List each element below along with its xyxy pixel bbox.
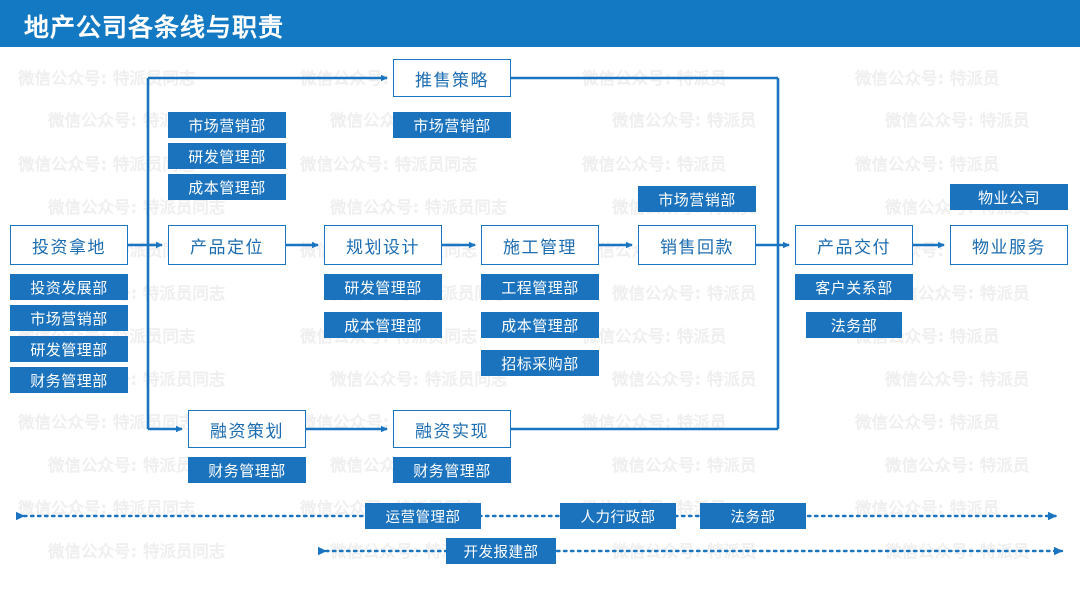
department-tag: 成本管理部 [481,312,599,338]
stage-box-invest[interactable]: 投资拿地 [10,225,128,265]
stage-box-build[interactable]: 施工管理 [481,225,599,265]
department-tag: 物业公司 [950,184,1068,210]
page-title: 地产公司各条线与职责 [24,8,284,44]
department-tag: 市场营销部 [10,305,128,331]
department-tag: 投资发展部 [10,274,128,300]
diagram-page: 地产公司各条线与职责 微信公众号: 特派员同志微信公众号: 特派员同志微信公众号… [0,0,1080,608]
stage-box-promote[interactable]: 推售策略 [393,59,511,97]
department-tag: 财务管理部 [188,457,306,483]
department-tag: 法务部 [806,312,902,338]
stage-box-plan[interactable]: 规划设计 [324,225,442,265]
department-tag: 招标采购部 [481,350,599,376]
department-tag: 财务管理部 [10,367,128,393]
department-tag: 工程管理部 [481,274,599,300]
stage-box-deliver[interactable]: 产品交付 [795,225,913,265]
department-tag: 市场营销部 [393,112,511,138]
support-function-label: 人力行政部 [560,503,676,529]
department-tag: 市场营销部 [168,112,286,138]
department-tag: 成本管理部 [168,174,286,200]
page-header: 地产公司各条线与职责 [0,0,1080,47]
department-tag: 客户关系部 [795,274,913,300]
department-tag: 研发管理部 [168,143,286,169]
stage-box-property[interactable]: 物业服务 [950,225,1068,265]
support-function-label: 运营管理部 [365,503,481,529]
department-tag: 财务管理部 [393,457,511,483]
stage-box-finexec[interactable]: 融资实现 [393,410,511,448]
stage-box-position[interactable]: 产品定位 [168,225,286,265]
support-function-label: 开发报建部 [446,538,556,564]
stage-box-finplan[interactable]: 融资策划 [188,410,306,448]
department-tag: 研发管理部 [324,274,442,300]
support-function-label: 法务部 [700,503,806,529]
department-tag: 研发管理部 [10,336,128,362]
department-tag: 成本管理部 [324,312,442,338]
department-tag: 市场营销部 [638,186,756,212]
diagram-canvas: 投资拿地产品定位规划设计施工管理销售回款产品交付物业服务推售策略融资策划融资实现… [0,47,1080,608]
stage-box-sales[interactable]: 销售回款 [638,225,756,265]
